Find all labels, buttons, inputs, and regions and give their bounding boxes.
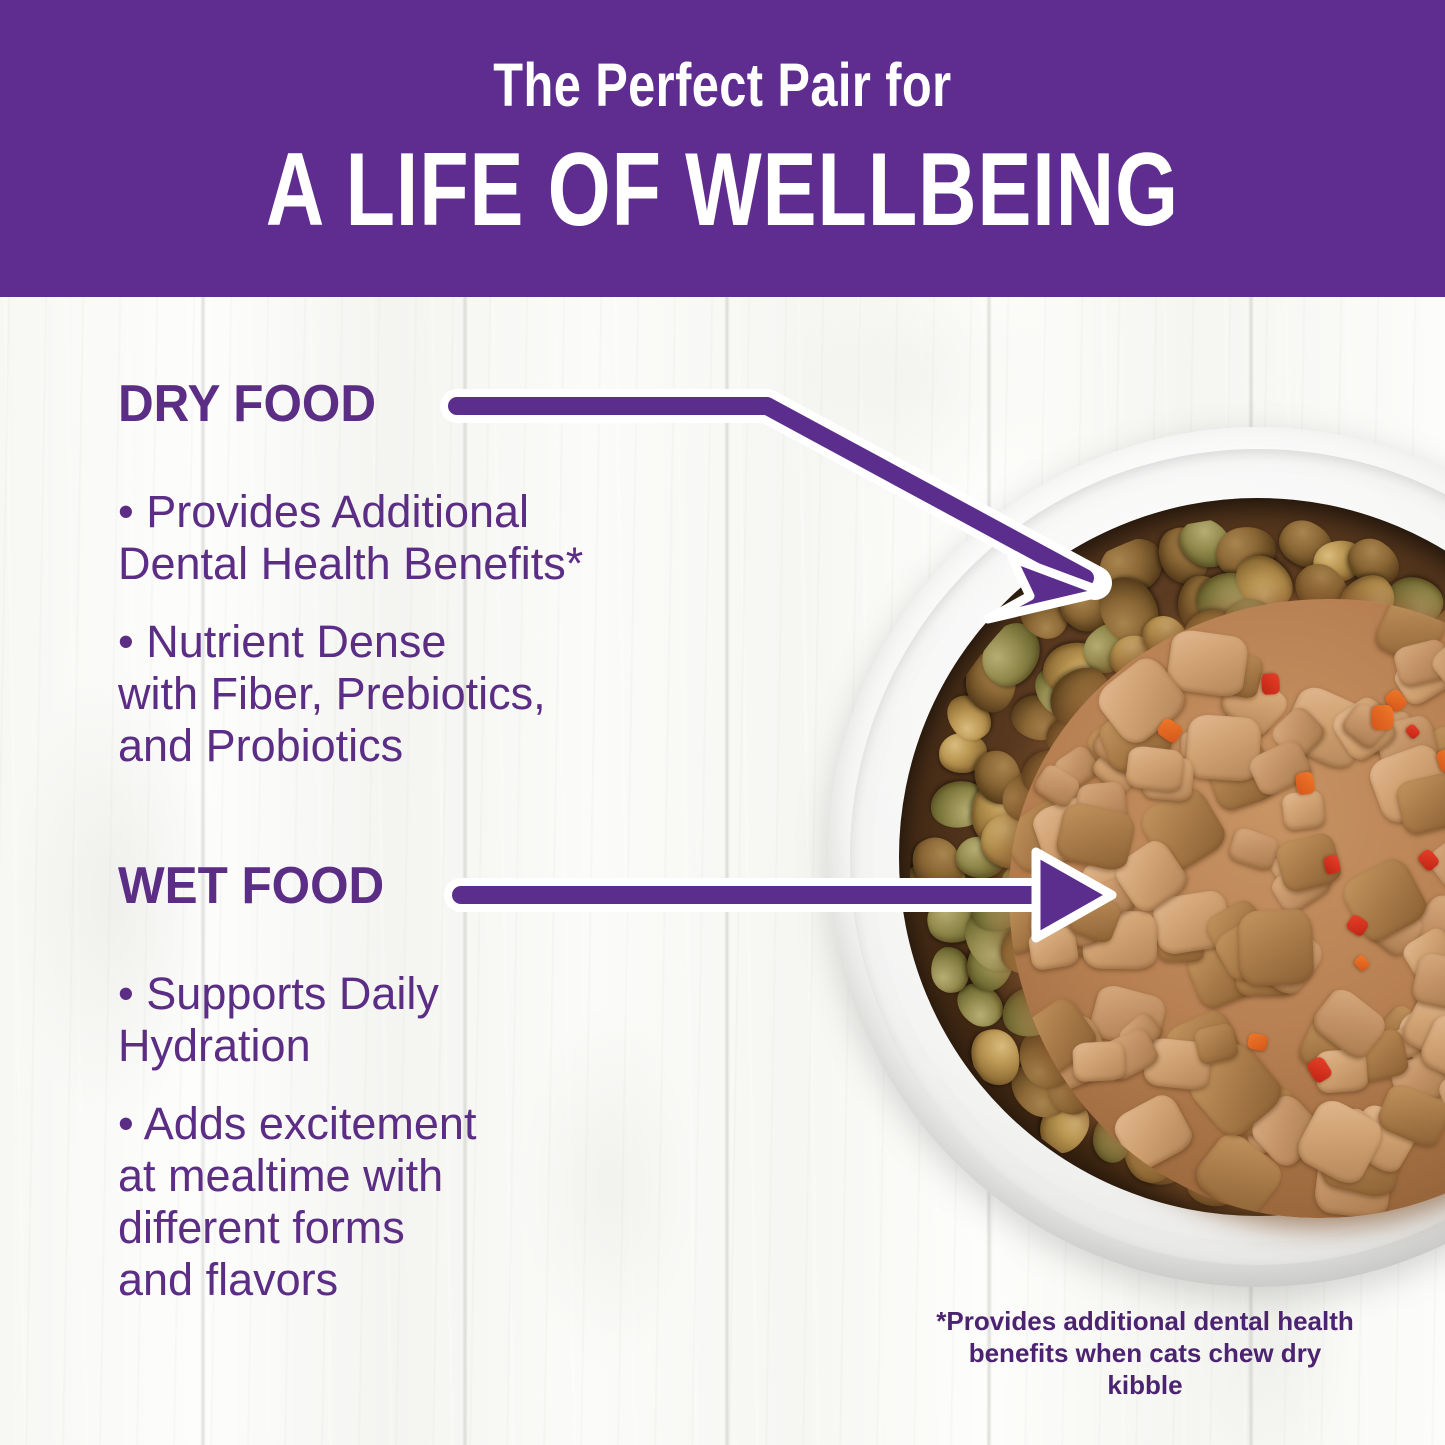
dry-food-section: DRY FOOD • Provides Additional Dental He…: [118, 378, 583, 798]
dry-food-bullet-1-text: Provides Additional Dental Health Benefi…: [118, 486, 583, 589]
dry-food-bullet-list: • Provides Additional Dental Health Bene…: [118, 486, 583, 772]
wet-food-section: WET FOOD • Supports Daily Hydration • Ad…: [118, 860, 476, 1332]
dry-food-title: DRY FOOD: [118, 378, 560, 430]
footnote-text: *Provides additional dental health benef…: [930, 1305, 1360, 1401]
bullet-dot-icon: •: [118, 1098, 134, 1149]
promo-graphic: The Perfect Pair for A LIFE OF WELLBEING…: [0, 0, 1445, 1445]
dry-food-bullet-1: • Provides Additional Dental Health Bene…: [118, 486, 583, 590]
wet-food-bullet-1-text: Supports Daily Hydration: [118, 968, 439, 1071]
bullet-dot-icon: •: [118, 968, 134, 1019]
bullet-dot-icon: •: [118, 486, 134, 537]
wet-food-bullet-2-text: Adds excitement at mealtime with differe…: [118, 1098, 476, 1305]
wet-food-bullet-list: • Supports Daily Hydration • Adds excite…: [118, 968, 476, 1306]
wet-food-bullet-1: • Supports Daily Hydration: [118, 968, 476, 1072]
wet-food-bullet-2: • Adds excitement at mealtime with diffe…: [118, 1098, 476, 1306]
header-title: A LIFE OF WELLBEING: [266, 138, 1179, 242]
bullet-dot-icon: •: [118, 616, 134, 667]
header-banner: The Perfect Pair for A LIFE OF WELLBEING: [0, 0, 1445, 297]
wet-food-title: WET FOOD: [118, 860, 459, 912]
dry-food-bullet-2-text: Nutrient Dense with Fiber, Prebiotics, a…: [118, 616, 546, 771]
dry-food-bullet-2: • Nutrient Dense with Fiber, Prebiotics,…: [118, 616, 583, 772]
header-subtitle: The Perfect Pair for: [493, 55, 951, 116]
